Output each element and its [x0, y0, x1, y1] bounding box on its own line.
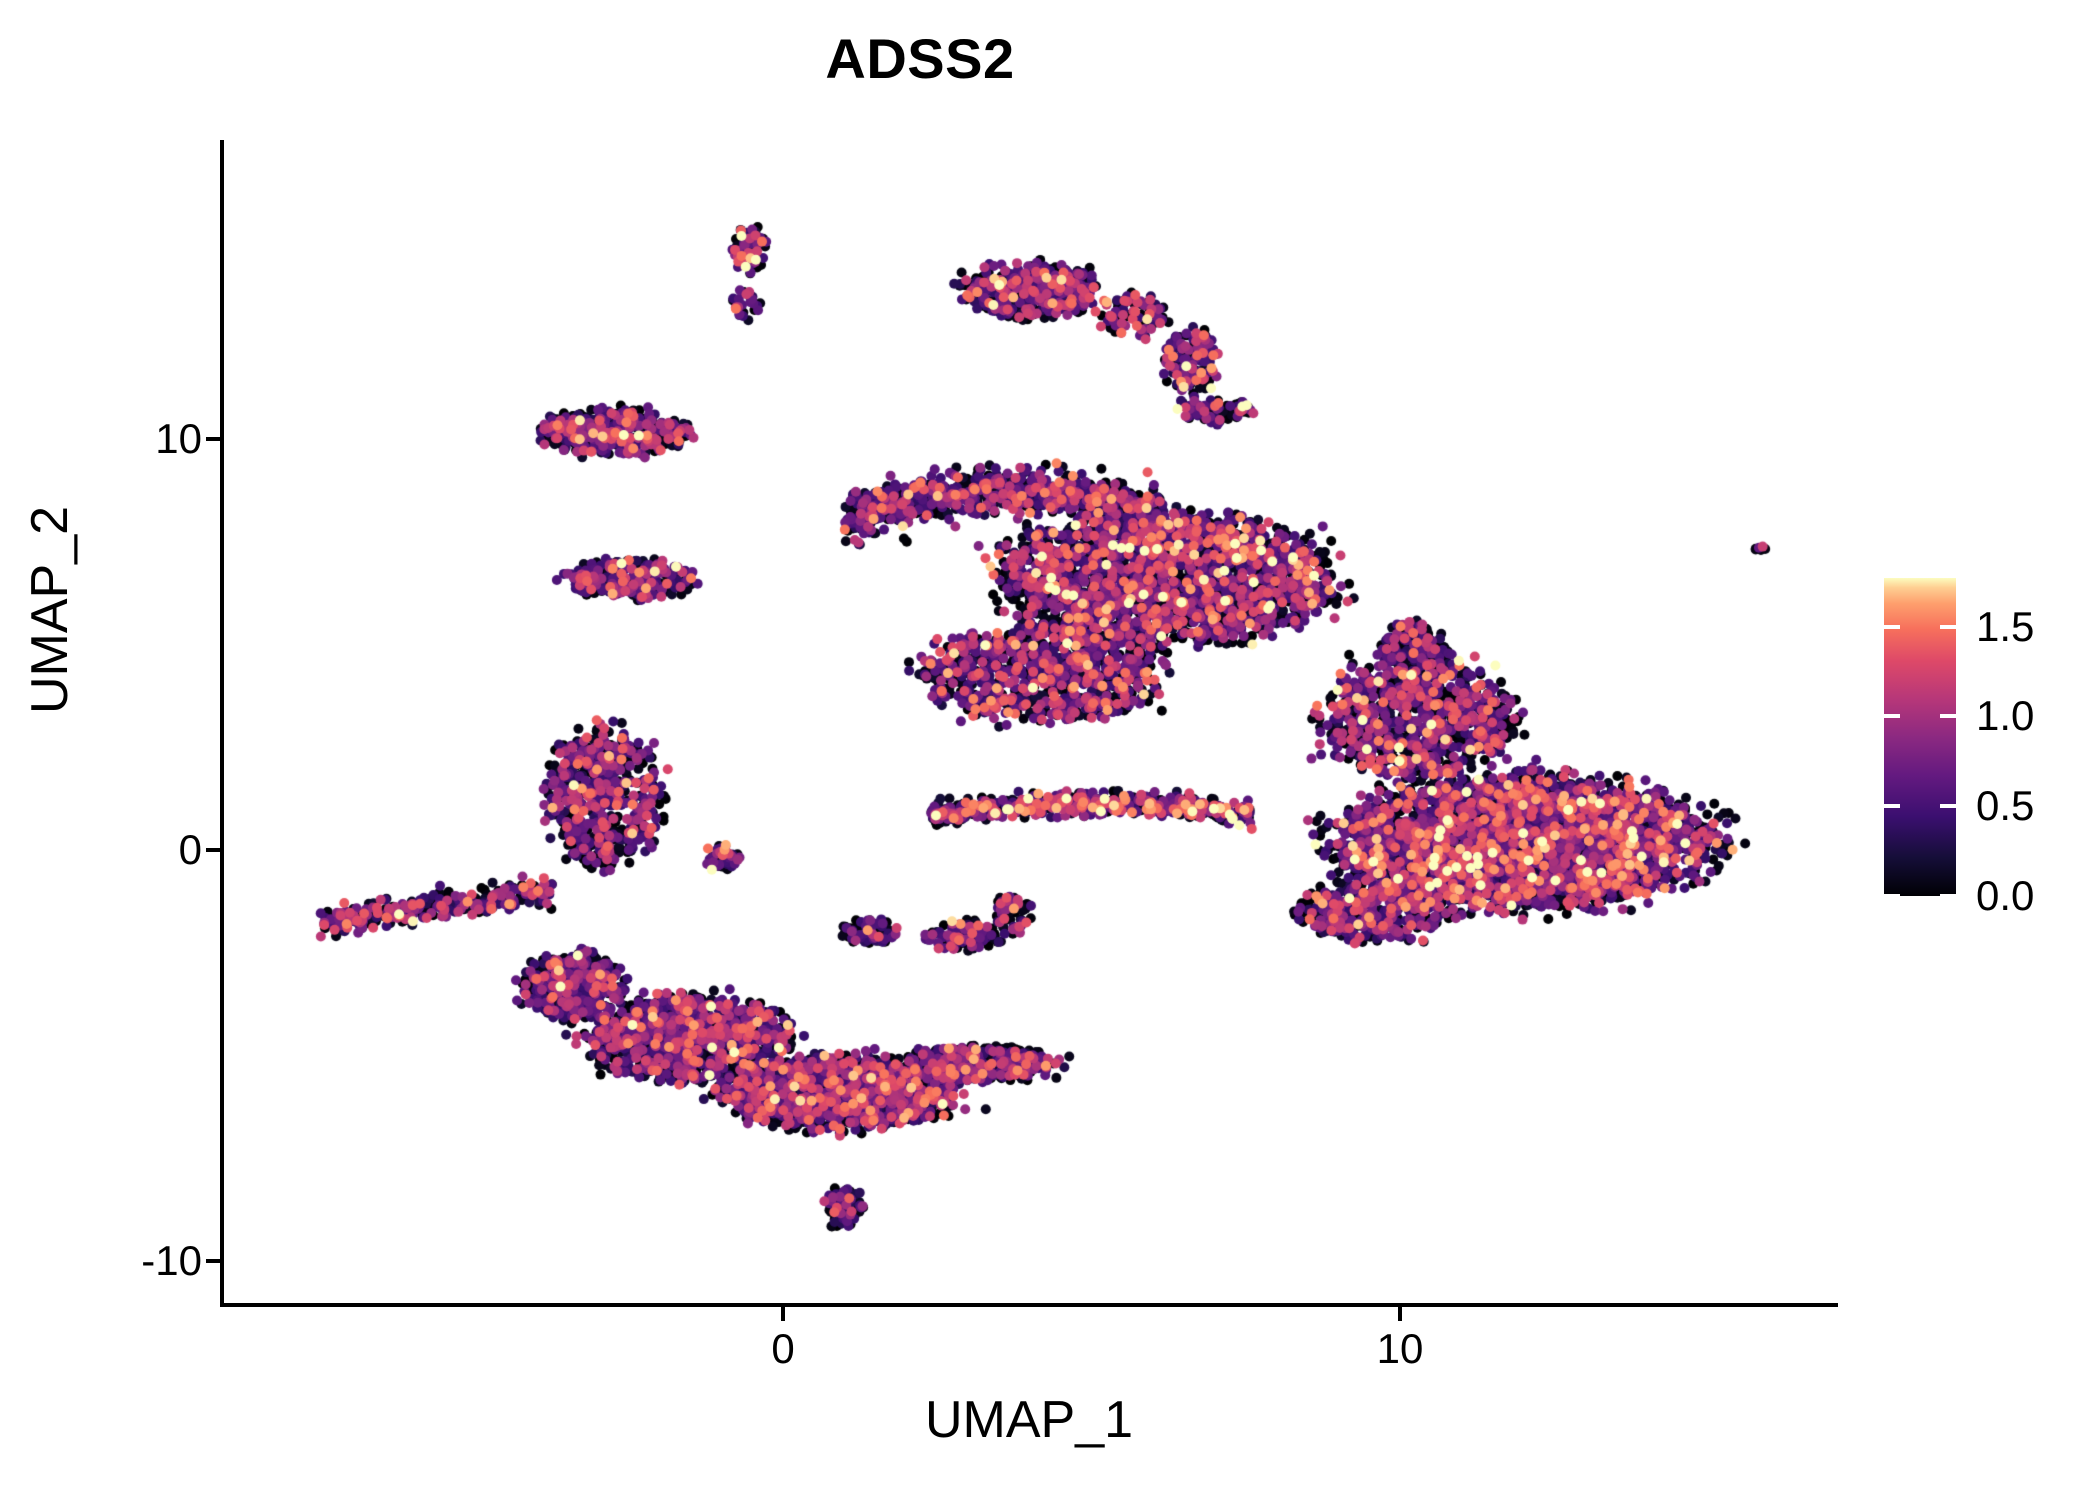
colorbar-tick-mark: [1940, 804, 1956, 808]
colorbar-tick-mark: [1940, 714, 1956, 718]
colorbar-tick-label: 1.5: [1976, 603, 2034, 651]
y-tick-label: -10: [141, 1237, 202, 1285]
colorbar-tick-mark: [1940, 625, 1956, 629]
x-tick-label: 10: [1377, 1325, 1424, 1373]
x-tick-mark: [781, 1307, 785, 1321]
chart-root: ADSS2 -10010010 UMAP_2 UMAP_1 0.00.51.01…: [0, 0, 2100, 1500]
colorbar-tick-mark: [1884, 714, 1900, 718]
y-axis-line: [220, 140, 224, 1307]
y-tick-label: 10: [155, 415, 202, 463]
colorbar-tick-label: 1.0: [1976, 692, 2034, 740]
colorbar-tick-mark: [1884, 625, 1900, 629]
y-axis-label: UMAP_2: [20, 370, 80, 850]
colorbar-tick-label: 0.0: [1976, 872, 2034, 920]
colorbar-tick-label: 0.5: [1976, 782, 2034, 830]
colorbar-tick-mark: [1884, 804, 1900, 808]
y-tick-mark: [206, 848, 220, 852]
scatter-plot-canvas: [0, 0, 2100, 1500]
y-tick-mark: [206, 1259, 220, 1263]
x-tick-label: 0: [771, 1325, 794, 1373]
y-tick-label: 0: [179, 826, 202, 874]
colorbar-tick-mark: [1940, 894, 1956, 898]
x-axis-label: UMAP_1: [220, 1390, 1838, 1450]
x-tick-mark: [1398, 1307, 1402, 1321]
x-axis-line: [220, 1303, 1838, 1307]
colorbar-tick-mark: [1884, 894, 1900, 898]
y-tick-mark: [206, 437, 220, 441]
